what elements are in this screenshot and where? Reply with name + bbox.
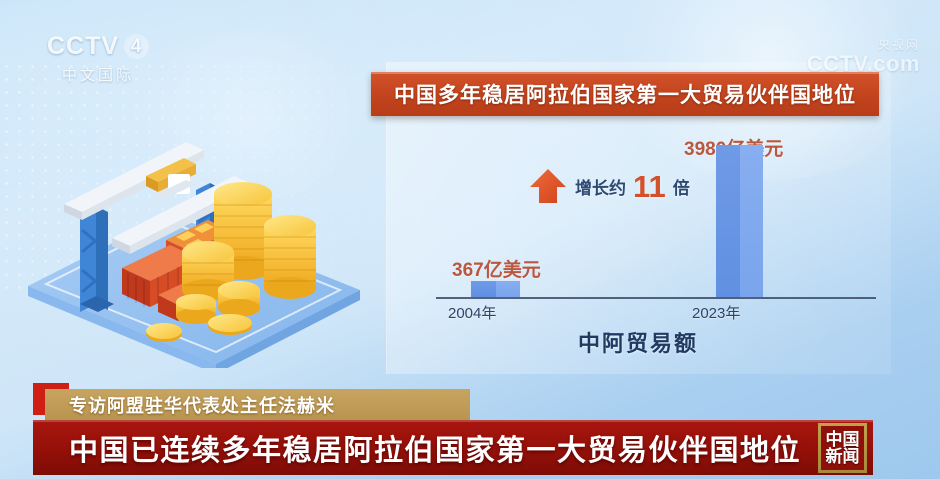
program-logo-line2: 新闻 xyxy=(826,448,860,465)
chart-headline-text: 中国多年稳居阿拉伯国家第一大贸易伙伴国地位 xyxy=(394,79,856,109)
x-axis-label-2023: 2023年 xyxy=(692,302,740,323)
chart-caption: 中阿贸易额 xyxy=(386,326,890,358)
lower-third-subtitle-bar: 专访阿盟驻华代表处主任法赫米 xyxy=(45,389,470,420)
growth-callout: 增长约 11 倍 xyxy=(528,166,690,206)
lower-third-subtitle-text: 专访阿盟驻华代表处主任法赫米 xyxy=(69,392,335,418)
x-axis-label-2004: 2004年 xyxy=(448,302,496,323)
lower-third-headline-bar: 中国已连续多年稳居阿拉伯国家第一大贸易伙伴国地位 xyxy=(33,420,873,475)
bar-2023-left-face xyxy=(716,145,740,297)
program-logo: 中国 新闻 xyxy=(818,423,867,473)
channel-logo-text: CCTV xyxy=(47,34,119,59)
channel-logo-mark: CCTV 4 xyxy=(47,34,149,59)
trade-illustration xyxy=(18,118,368,368)
bar-2004-right-face xyxy=(496,281,521,297)
bar-2023-right-face xyxy=(740,145,764,297)
program-logo-inner: 中国 新闻 xyxy=(821,426,864,470)
growth-value-text: 11 xyxy=(633,171,666,202)
up-arrow-icon xyxy=(528,166,568,206)
channel-logo-subtitle: 中文国际 xyxy=(47,64,149,85)
chart-headline-banner: 中国多年稳居阿拉伯国家第一大贸易伙伴国地位 xyxy=(371,72,879,116)
bar-2023 xyxy=(716,145,763,297)
bar-2004-left-face xyxy=(471,281,496,297)
program-logo-line1: 中国 xyxy=(826,431,860,448)
channel-number-badge: 4 xyxy=(124,34,149,59)
growth-suffix-text: 倍 xyxy=(673,174,690,199)
growth-prefix-text: 增长约 xyxy=(575,174,626,199)
chart-axis-line xyxy=(436,297,876,299)
channel-logo: CCTV 4 中文国际 xyxy=(47,34,149,85)
bar-2004 xyxy=(471,281,520,297)
bar-value-label-2004: 367亿美元 xyxy=(452,255,541,282)
isometric-port-scene-icon xyxy=(18,118,368,368)
lower-third-headline-text: 中国已连续多年稳居阿拉伯国家第一大贸易伙伴国地位 xyxy=(69,427,801,469)
broadcast-screen: CCTV 4 中文国际 央视网 CCTV.com xyxy=(0,0,940,479)
trade-volume-bar-chart: 3980亿美元 367亿美元 增长约 11 倍 2004年 xyxy=(386,130,890,374)
